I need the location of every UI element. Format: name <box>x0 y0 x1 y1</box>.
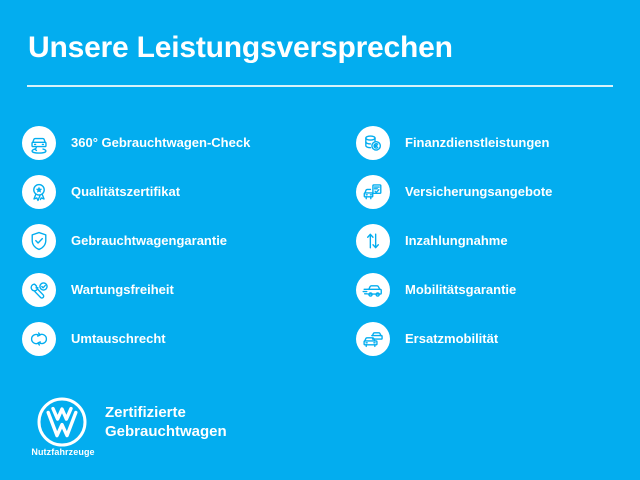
title-divider <box>27 85 613 87</box>
wrench-check-icon <box>22 273 56 307</box>
promise-label: Umtauschrecht <box>71 331 166 347</box>
brand-sub-label: Nutzfahrzeuge <box>30 447 96 457</box>
promise-label: Mobilitätsgarantie <box>405 282 516 298</box>
promise-item-gebrauchtwagen-check[interactable]: 360° Gebrauchtwagen-Check <box>22 118 312 167</box>
brand-claim-line1: Zertifizierte <box>105 403 227 422</box>
promise-item-wartungsfreiheit[interactable]: Wartungsfreiheit <box>22 265 312 314</box>
promises-columns: 360° Gebrauchtwagen-Check Qualitätszerti… <box>0 118 640 368</box>
exchange-arrows-icon <box>22 322 56 356</box>
coins-euro-icon <box>356 126 390 160</box>
car-motion-icon <box>356 273 390 307</box>
promise-label: Gebrauchtwagengarantie <box>71 233 227 249</box>
car-document-check-icon <box>356 175 390 209</box>
promise-item-finanzdienstleistungen[interactable]: Finanzdienstleistungen <box>356 118 640 167</box>
promise-item-umtauschrecht[interactable]: Umtauschrecht <box>22 314 312 363</box>
brand-claim: Zertifizierte Gebrauchtwagen <box>105 403 227 441</box>
shield-check-icon <box>22 224 56 258</box>
promise-item-versicherungsangebote[interactable]: Versicherungsangebote <box>356 167 640 216</box>
vw-logo-icon <box>36 396 88 448</box>
car-360-check-icon <box>22 126 56 160</box>
brand-mark: Nutzfahrzeuge <box>30 396 94 460</box>
promise-label: Finanzdienstleistungen <box>405 135 549 151</box>
promise-item-gebrauchtwagengarantie[interactable]: Gebrauchtwagengarantie <box>22 216 312 265</box>
page-title: Unsere Leistungsversprechen <box>28 30 453 66</box>
promise-label: Inzahlungnahme <box>405 233 508 249</box>
promise-label: Wartungsfreiheit <box>71 282 174 298</box>
promise-item-qualitaetszertifikat[interactable]: Qualitätszertifikat <box>22 167 312 216</box>
quality-award-badge-icon <box>22 175 56 209</box>
promise-label: Versicherungsangebote <box>405 184 552 200</box>
brand-claim-line2: Gebrauchtwagen <box>105 422 227 441</box>
slide-root: Unsere Leistungsversprechen 360° Gebrauc… <box>0 0 640 480</box>
arrows-up-down-icon <box>356 224 390 258</box>
two-cars-icon <box>356 322 390 356</box>
promise-item-ersatzmobilitaet[interactable]: Ersatzmobilität <box>356 314 640 363</box>
promise-label: Ersatzmobilität <box>405 331 498 347</box>
brand-footer: Nutzfahrzeuge Zertifizierte Gebrauchtwag… <box>30 396 330 462</box>
promise-label: 360° Gebrauchtwagen-Check <box>71 135 250 151</box>
promises-column-left: 360° Gebrauchtwagen-Check Qualitätszerti… <box>22 118 312 363</box>
promises-column-right: Finanzdienstleistungen Versicherungsange… <box>356 118 640 363</box>
promise-item-mobilitaetsgarantie[interactable]: Mobilitätsgarantie <box>356 265 640 314</box>
promise-label: Qualitätszertifikat <box>71 184 180 200</box>
promise-item-inzahlungnahme[interactable]: Inzahlungnahme <box>356 216 640 265</box>
